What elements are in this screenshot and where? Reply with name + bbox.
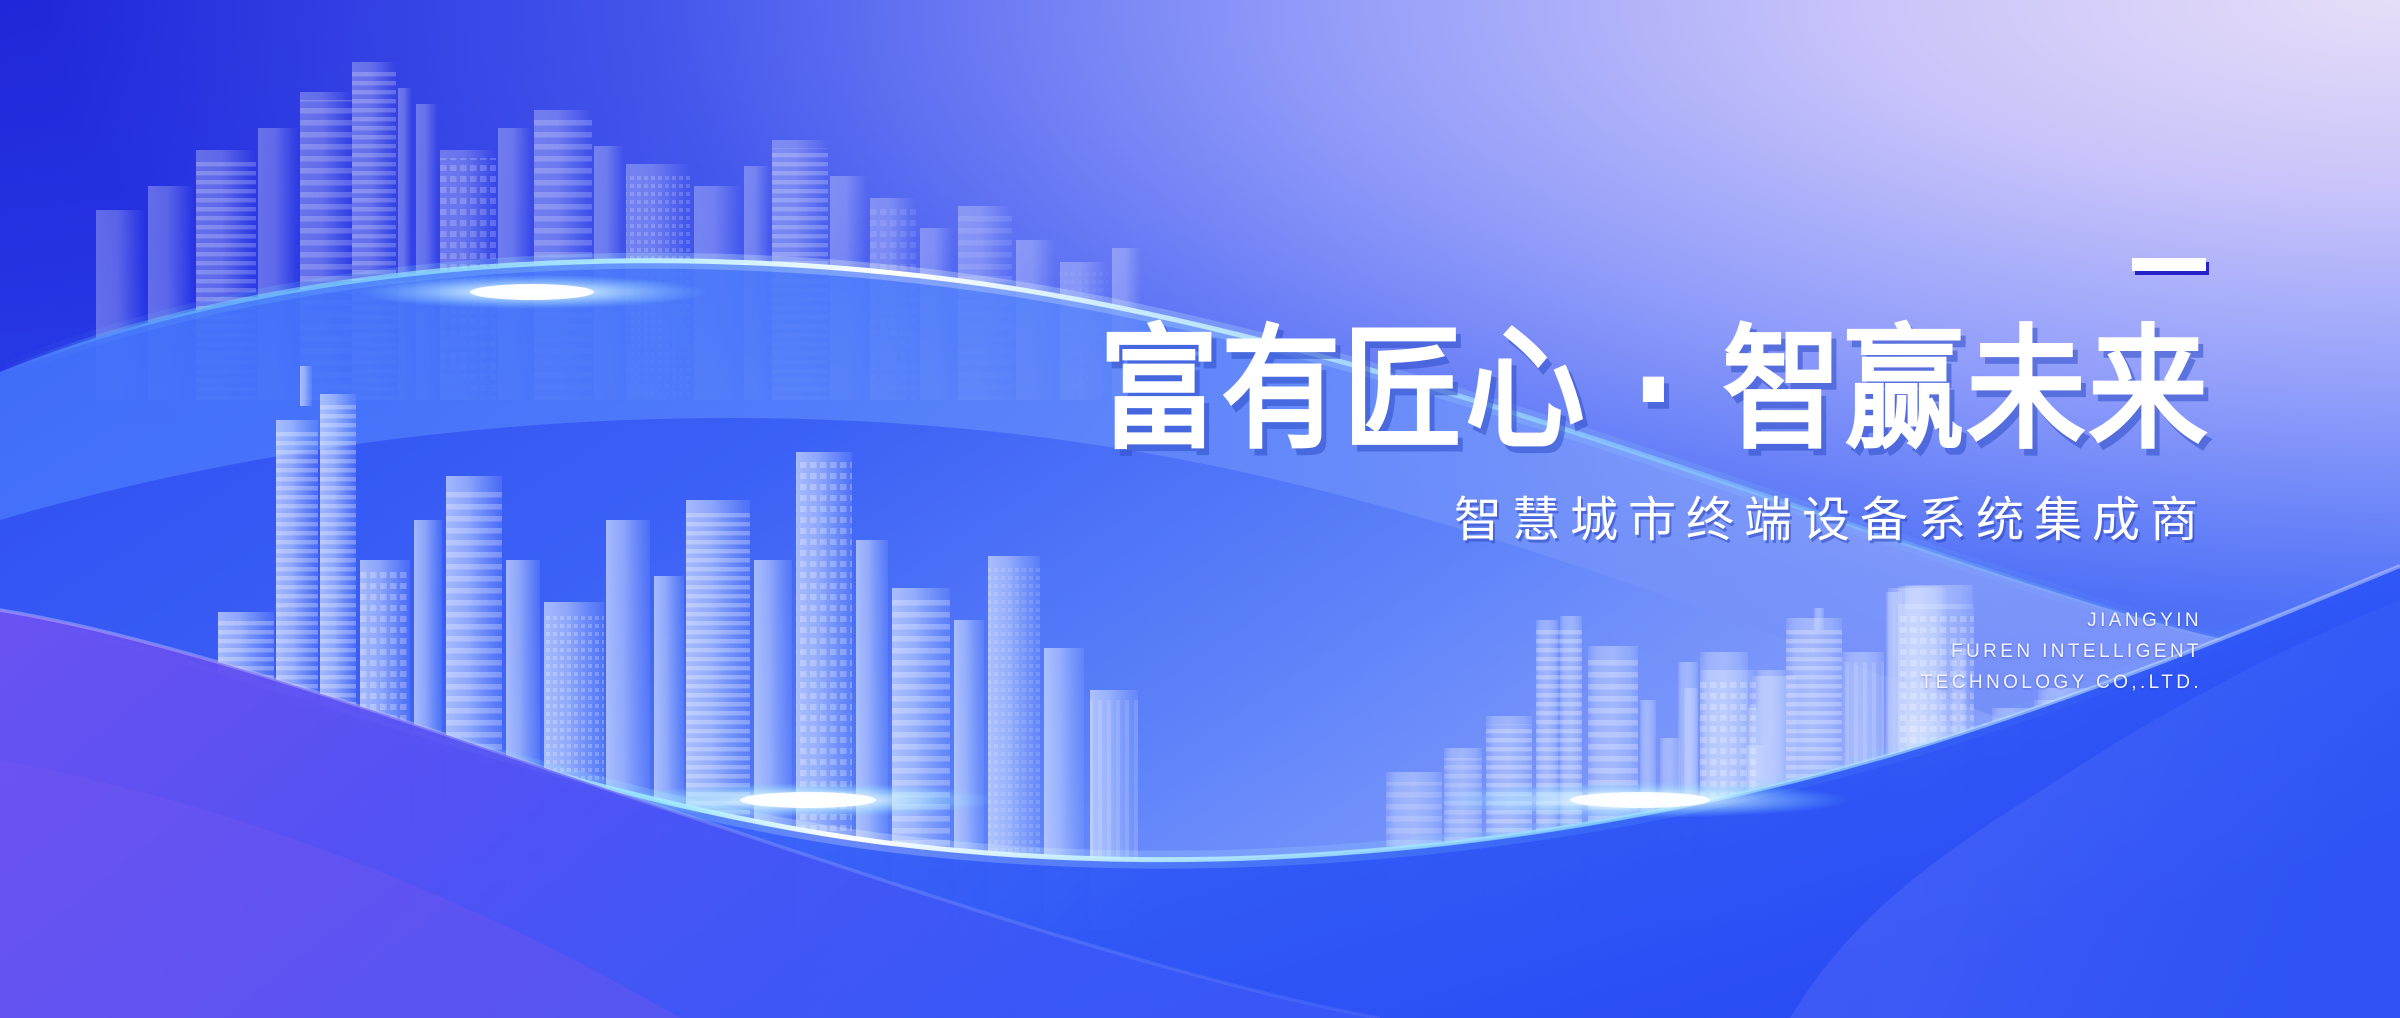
page-subtitle: 智慧城市终端设备系统集成商 [1050,496,2208,544]
promotional-banner: 富有匠心 · 智赢未来 智慧城市终端设备系统集成商 JIANGYIN FUREN… [0,0,2400,1018]
company-line-2: FUREN INTELLIGENT [1050,637,2202,668]
page-title: 富有匠心 · 智赢未来 [1050,324,2210,458]
company-line-1: JIANGYIN [1050,606,2202,637]
accent-dash-icon [2132,258,2206,271]
company-line-3: TECHNOLOGY CO,.LTD. [1050,668,2202,699]
company-name-block: JIANGYIN FUREN INTELLIGENT TECHNOLOGY CO… [1050,606,2202,698]
headline-block: 富有匠心 · 智赢未来 智慧城市终端设备系统集成商 JIANGYIN FUREN… [1050,258,2210,698]
